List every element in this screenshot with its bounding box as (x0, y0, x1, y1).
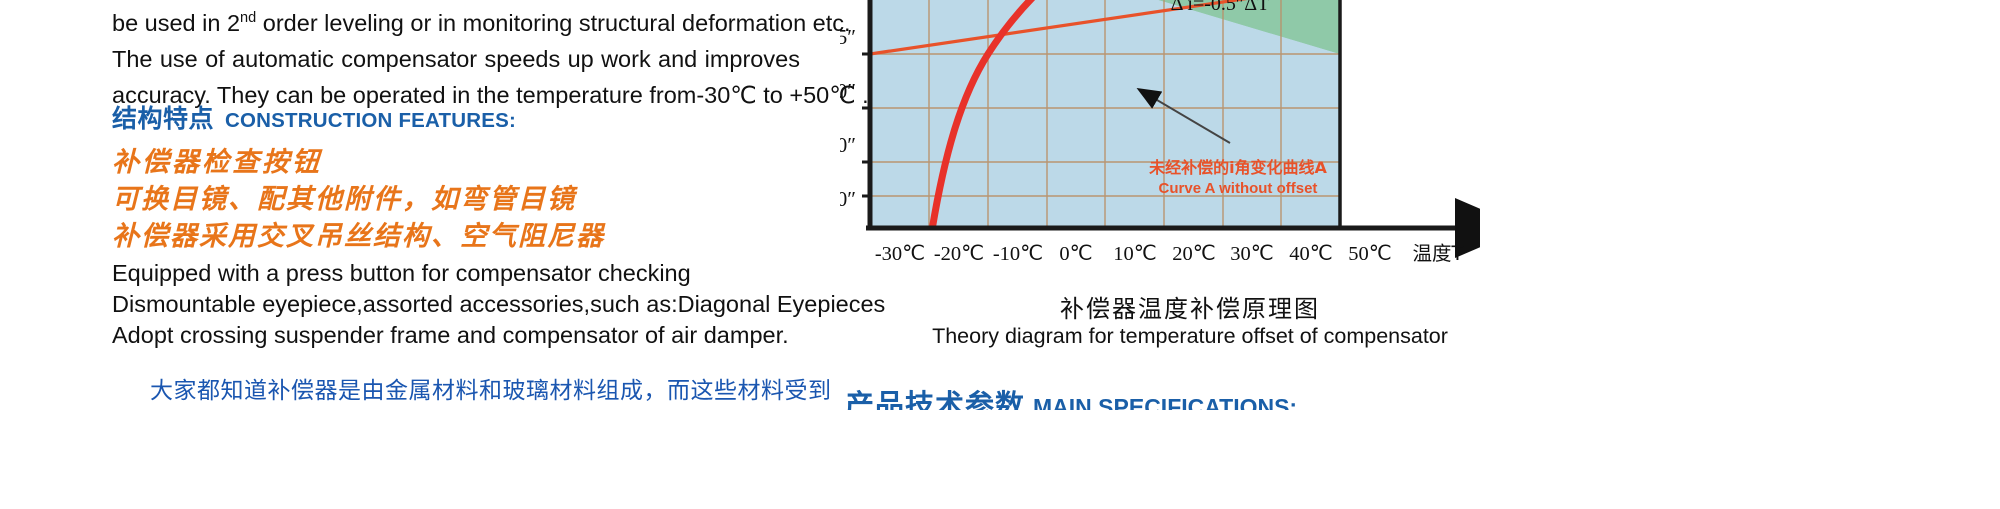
x-tick-label--30: -30℃ (875, 243, 925, 265)
feature-cn-line-2: 可换目镜、配其他附件，如弯管目镜 (112, 177, 576, 216)
specs-heading-english: MAIN SPECIFICATIONS: (1033, 394, 1297, 410)
x-tick-label--20: -20℃ (934, 243, 984, 265)
x-tick-label-20: 20℃ (1172, 243, 1216, 265)
heading-chinese: 结构特点 (112, 99, 214, 135)
curve-a-label-cn: 未经补偿的i角变化曲线A (1148, 158, 1327, 177)
heading-english: CONSTRUCTION FEATURES: (225, 109, 516, 133)
y-tick-label-45: -45″ (840, 25, 856, 49)
y-tick-label-70: -70″ (840, 133, 856, 157)
intro-paragraph: be used in 2nd order leveling or in moni… (112, 0, 800, 113)
brochure-page: be used in 2nd order leveling or in moni… (0, 0, 2000, 509)
left-column: be used in 2nd order leveling or in moni… (112, 0, 812, 509)
chart-caption-chinese: 补偿器温度补偿原理图 (840, 289, 1540, 324)
paragraph-line-2: Theuseofautomaticcompensatorspeedsupwork… (112, 41, 800, 77)
paragraph-line-1: be used in 2nd order leveling or in moni… (112, 0, 800, 41)
specs-heading-chinese: 产品技术参数 (845, 382, 1025, 410)
construction-features-heading: 结构特点 CONSTRUCTION FEATURES: (112, 99, 516, 135)
feature-cn-line-3: 补偿器采用交叉吊丝结构、空气阻尼器 (112, 214, 605, 253)
x-axis-title: 温度T (1413, 242, 1464, 265)
x-tick-label-40: 40℃ (1289, 243, 1333, 265)
feature-english-list: Equipped with a press button for compens… (112, 258, 812, 351)
temperature-compensation-chart: 0″ -15″ -30″ -45″ -60″ -70″ -80″ -30℃ -2… (840, 0, 1480, 288)
chart-caption-english: Theory diagram for temperature offset of… (840, 324, 1540, 349)
x-tick-label-30: 30℃ (1230, 243, 1274, 265)
y-tick-label-80: -80″ (840, 187, 856, 211)
x-tick-label-0: 0℃ (1059, 243, 1092, 265)
delta-i-annotation: Δ i=-0.5″ΔT (1171, 0, 1270, 15)
feature-cn-line-1: 补偿器检查按钮 (112, 140, 322, 179)
curve-a-label-en: Curve A without offset (1159, 180, 1318, 197)
y-tick-label-60: -60″ (840, 79, 856, 103)
x-tick-label-50: 50℃ (1348, 243, 1392, 265)
main-specifications-heading: 产品技术参数 MAIN SPECIFICATIONS: (845, 382, 1297, 410)
feature-en-line-1: Equipped with a press button for compens… (112, 258, 812, 289)
feature-en-line-3: Adopt crossing suspender frame and compe… (112, 320, 812, 351)
x-tick-label--10: -10℃ (993, 243, 1043, 265)
x-tick-label-10: 10℃ (1113, 243, 1157, 265)
ordinal-superscript: nd (240, 10, 256, 26)
body-chinese-paragraph: 大家都知道补偿器是由金属材料和玻璃材料组成，而这些材料受到 (150, 371, 832, 405)
feature-en-line-2: Dismountable eyepiece,assorted accessori… (112, 289, 812, 320)
